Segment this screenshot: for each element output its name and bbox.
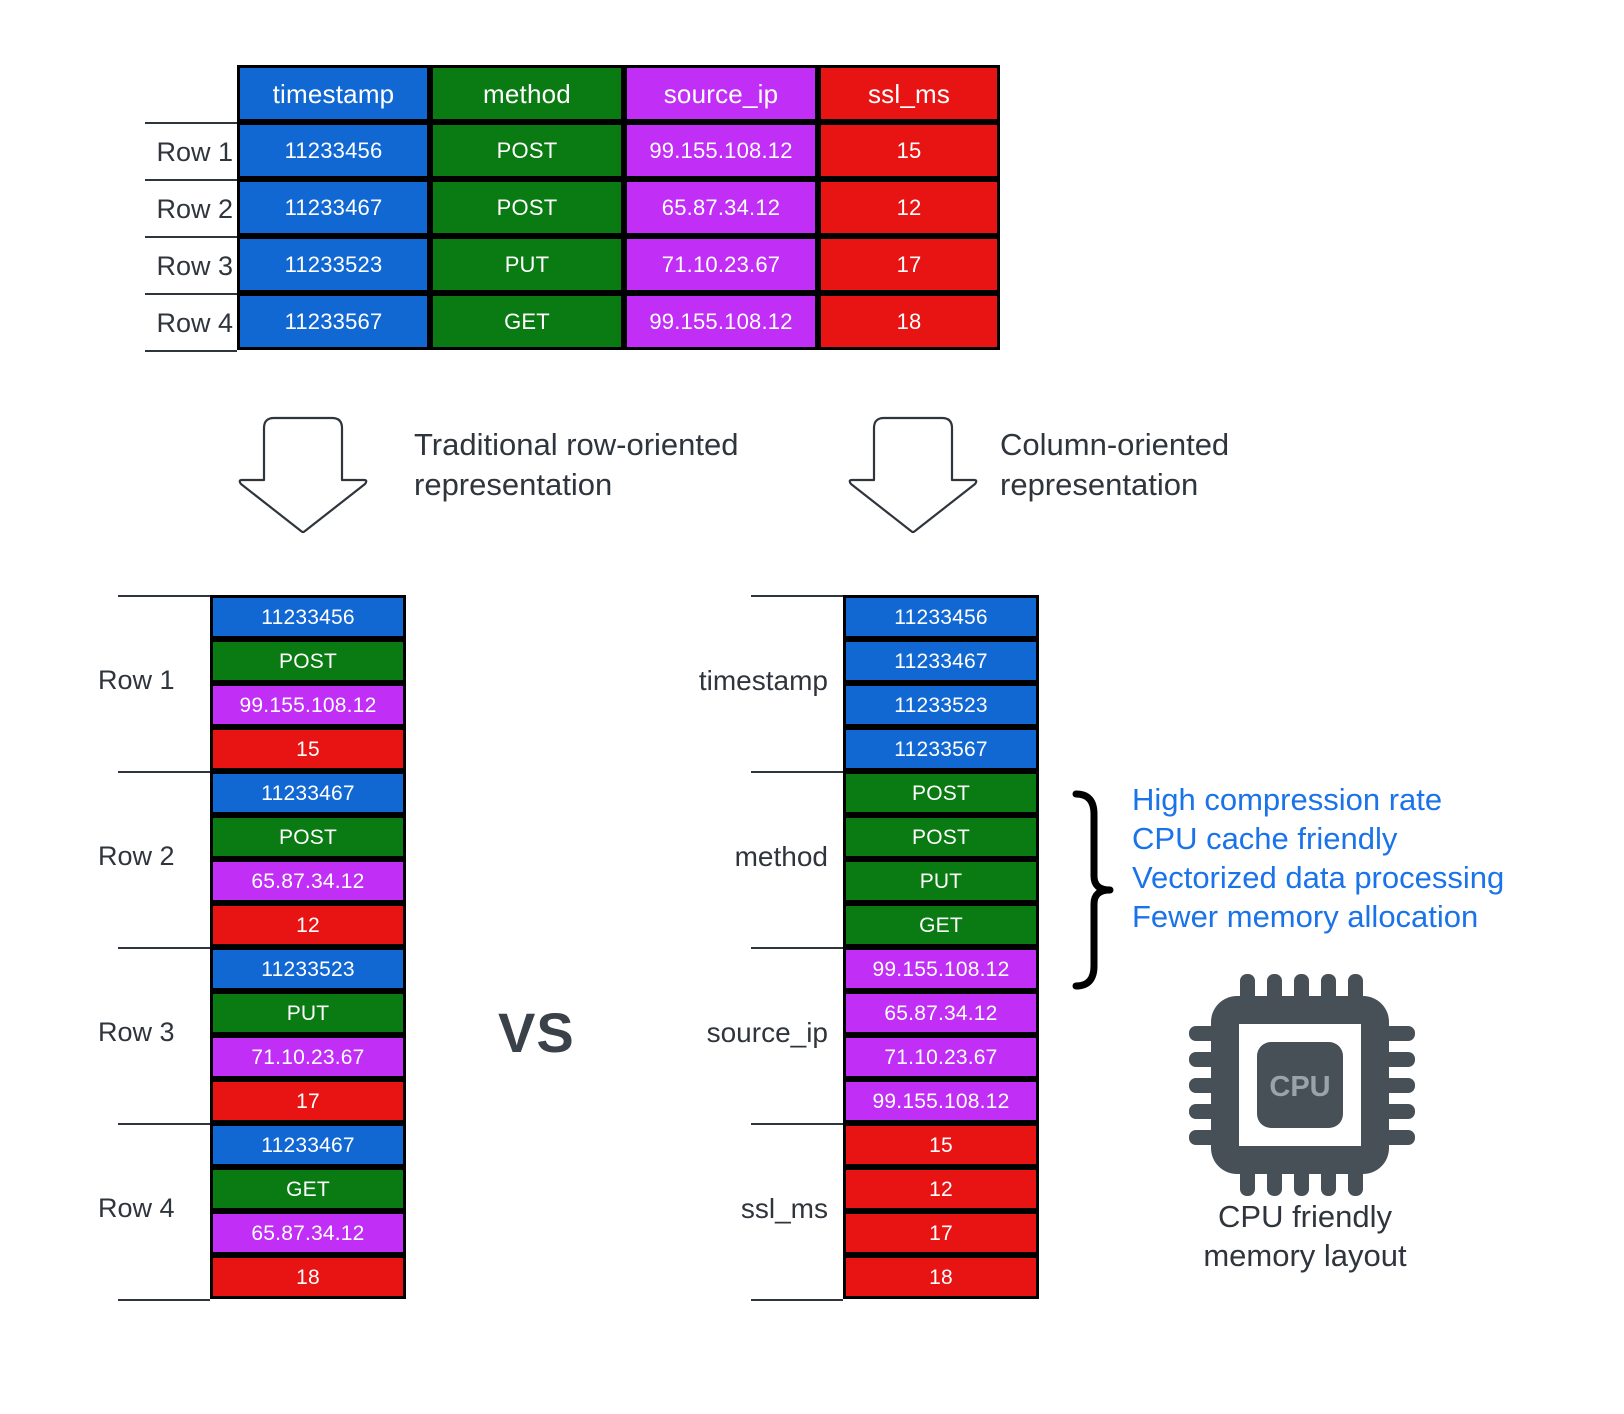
column-group-label: method [600, 841, 828, 873]
table-cell: 12 [818, 179, 1000, 236]
column-store-cell: 65.87.34.12 [843, 991, 1039, 1035]
row-group-tick-line [118, 595, 210, 597]
row-group-tick-line [118, 771, 210, 773]
row-group-tick-line [118, 947, 210, 949]
row-store-cell: 11233467 [210, 771, 406, 815]
table-cell: PUT [430, 236, 624, 293]
row-tick-line [145, 236, 237, 238]
column-store-cell: GET [843, 903, 1039, 947]
column-group-label: source_ip [600, 1017, 828, 1049]
row-tick-line [145, 179, 237, 181]
table-cell: 11233523 [237, 236, 430, 293]
column-group-tick-line [751, 1299, 843, 1301]
table-cell: 18 [818, 293, 1000, 350]
row-tick-line [145, 350, 237, 352]
table-cell: 11233456 [237, 122, 430, 179]
table-cell: 99.155.108.12 [624, 293, 818, 350]
table-cell: GET [430, 293, 624, 350]
row-store-cell: POST [210, 639, 406, 683]
table-header-cell: source_ip [624, 65, 818, 122]
row-store-cell: 15 [210, 727, 406, 771]
row-oriented-arrow-label: Traditional row-oriented representation [414, 425, 814, 506]
curly-brace-icon [1066, 790, 1116, 990]
row-store-cell: 11233456 [210, 595, 406, 639]
cpu-chip-icon: CPU [1185, 970, 1425, 1200]
cpu-chip-label: CPU [1269, 1071, 1330, 1103]
column-oriented-arrow-label: Column-oriented representation [1000, 425, 1400, 506]
row-store-cell: POST [210, 815, 406, 859]
table-cell: 99.155.108.12 [624, 122, 818, 179]
table-cell: 17 [818, 236, 1000, 293]
table-row-label: Row 3 [145, 251, 233, 282]
diagram-canvas: timestampmethodsource_ipssl_ms11233456PO… [0, 0, 1624, 1414]
table-header-cell: ssl_ms [818, 65, 1000, 122]
row-store-cell: 99.155.108.12 [210, 683, 406, 727]
column-group-label: ssl_ms [600, 1193, 828, 1225]
cpu-caption: CPU friendly memory layout [1155, 1198, 1455, 1276]
row-store-cell: GET [210, 1167, 406, 1211]
table-cell: POST [430, 179, 624, 236]
row-group-label: Row 3 [98, 1017, 206, 1048]
row-store-cell: 11233467 [210, 1123, 406, 1167]
row-store-cell: 17 [210, 1079, 406, 1123]
row-group-label: Row 4 [98, 1193, 206, 1224]
row-store-cell: 12 [210, 903, 406, 947]
table-cell: 11233467 [237, 179, 430, 236]
table-header-cell: timestamp [237, 65, 430, 122]
table-cell: 15 [818, 122, 1000, 179]
column-group-tick-line [751, 1123, 843, 1125]
row-store-cell: 11233523 [210, 947, 406, 991]
table-cell: 11233567 [237, 293, 430, 350]
column-store-cell: 11233567 [843, 727, 1039, 771]
column-group-label: timestamp [600, 665, 828, 697]
column-store-cell: PUT [843, 859, 1039, 903]
benefits-list: High compression rate CPU cache friendly… [1132, 780, 1602, 936]
row-store-cell: 18 [210, 1255, 406, 1299]
column-store-cell: 11233456 [843, 595, 1039, 639]
vs-label: VS [498, 1000, 575, 1065]
column-store-cell: POST [843, 815, 1039, 859]
table-cell: 65.87.34.12 [624, 179, 818, 236]
row-group-tick-line [118, 1123, 210, 1125]
row-group-label: Row 2 [98, 841, 206, 872]
column-store-cell: 71.10.23.67 [843, 1035, 1039, 1079]
column-store-cell: 11233523 [843, 683, 1039, 727]
column-store-cell: 11233467 [843, 639, 1039, 683]
row-tick-line [145, 293, 237, 295]
column-store-cell: 17 [843, 1211, 1039, 1255]
table-row-label: Row 4 [145, 308, 233, 339]
table-cell: 71.10.23.67 [624, 236, 818, 293]
down-arrow-icon-right [848, 412, 978, 537]
column-store-cell: 99.155.108.12 [843, 1079, 1039, 1123]
row-store-cell: 65.87.34.12 [210, 859, 406, 903]
column-store-cell: POST [843, 771, 1039, 815]
column-group-tick-line [751, 947, 843, 949]
column-store-cell: 15 [843, 1123, 1039, 1167]
table-header-cell: method [430, 65, 624, 122]
row-store-cell: 71.10.23.67 [210, 1035, 406, 1079]
row-group-label: Row 1 [98, 665, 206, 696]
table-row-label: Row 2 [145, 194, 233, 225]
column-store-cell: 18 [843, 1255, 1039, 1299]
row-group-tick-line [118, 1299, 210, 1301]
column-store-cell: 99.155.108.12 [843, 947, 1039, 991]
table-cell: POST [430, 122, 624, 179]
down-arrow-icon-left [238, 412, 368, 537]
table-row-label: Row 1 [145, 137, 233, 168]
column-store-cell: 12 [843, 1167, 1039, 1211]
row-store-cell: PUT [210, 991, 406, 1035]
column-group-tick-line [751, 595, 843, 597]
column-group-tick-line [751, 771, 843, 773]
row-store-cell: 65.87.34.12 [210, 1211, 406, 1255]
row-tick-line [145, 122, 237, 124]
